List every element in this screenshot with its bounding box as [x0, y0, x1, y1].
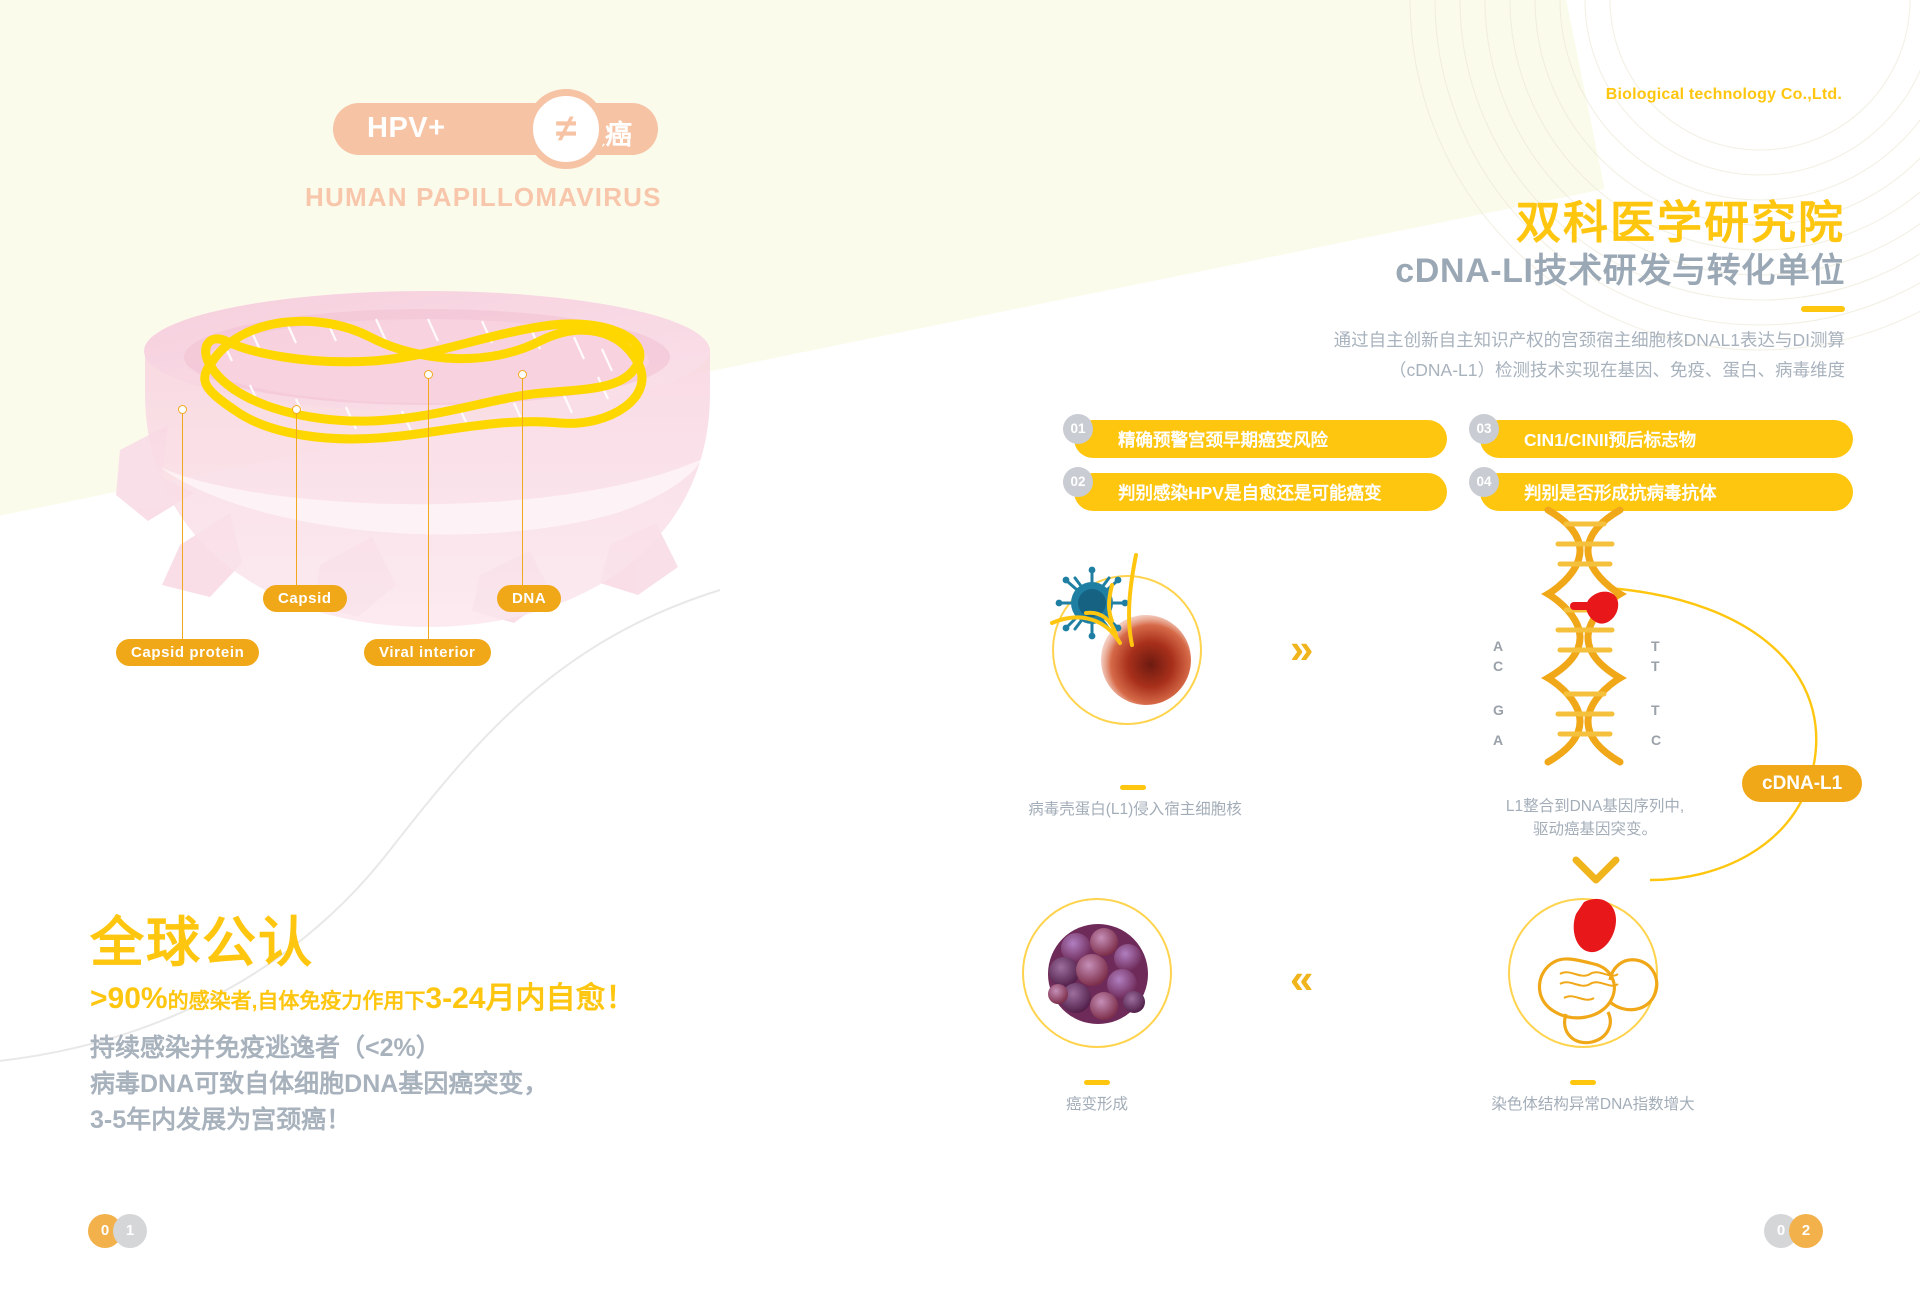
dna-base-left-2: C: [1493, 658, 1503, 674]
paragraph-line-1: 持续感染并免疫逃逸者（<2%）: [90, 1030, 548, 1066]
leader-line-dna: [522, 375, 524, 594]
dna-base-right-4: C: [1651, 732, 1661, 748]
description-line-1: 通过自主创新自主知识产权的宫颈宿主细胞核DNAL1表达与DI测算: [1245, 325, 1845, 355]
dna-base-left-1: A: [1493, 638, 1503, 654]
persistent-infection-paragraph: 持续感染并免疫逃逸者（<2%） 病毒DNA可致自体细胞DNA基因癌突变， 3-5…: [90, 1030, 548, 1138]
hpv-not-equal-cancer-badge: HPV+ 宫颈癌 ≠: [333, 103, 658, 155]
leader-line-capsid: [296, 410, 298, 594]
institute-subtitle: cDNA-LI技术研发与转化单位: [1395, 243, 1845, 292]
institute-description: 通过自主创新自主知识产权的宫颈宿主细胞核DNAL1表达与DI测算 （cDNA-L…: [1245, 325, 1845, 385]
dna-base-right-3: T: [1651, 702, 1660, 718]
human-papillomavirus-subtitle: HUMAN PAPILLOMAVIRUS: [305, 182, 662, 213]
self-clearance-stat: >90%的感染者,自体免疫力作用下3-24月内自愈！: [90, 973, 635, 1017]
step1-caption-rule: [1120, 785, 1146, 790]
virus-petri-dish-illustration: [90, 245, 830, 665]
feature-pill-02-body: 判别感染HPV是自愈还是可能癌变: [1074, 473, 1447, 511]
tag-viral-interior: Viral interior: [364, 639, 491, 666]
feature-pill-03-label: CIN1/CINII预后标志物: [1524, 427, 1696, 452]
dna-base-right-1: T: [1651, 638, 1660, 654]
feature-pill-03[interactable]: CIN1/CINII预后标志物 03: [1469, 420, 1853, 458]
page-number-right: 0 2: [1764, 1214, 1832, 1248]
tag-dna: DNA: [497, 585, 561, 612]
stat-middle-text: 的感染者,自体免疫力作用下: [168, 990, 426, 1013]
feature-pill-02-number: 02: [1063, 467, 1093, 497]
feature-pill-row-1: 精确预警宫颈早期癌变风险 01 CIN1/CINII预后标志物 03: [1063, 420, 1853, 458]
feature-pill-01-label: 精确预警宫颈早期癌变风险: [1118, 427, 1328, 452]
not-equal-icon: ≠: [526, 89, 606, 169]
helix-strands: [1548, 510, 1620, 762]
feature-pill-03-number: 03: [1469, 414, 1499, 444]
step4-caption-rule: [1084, 1080, 1110, 1085]
not-equal-glyph: ≠: [533, 105, 599, 153]
feature-pill-row-2: 判别感染HPV是自愈还是可能癌变 02 判别是否形成抗病毒抗体 04: [1063, 473, 1853, 511]
paragraph-line-3: 3-5年内发展为宫颈癌！: [90, 1102, 548, 1138]
feature-pill-02-label: 判别感染HPV是自愈还是可能癌变: [1118, 480, 1381, 505]
chevron-right-icon: »: [1290, 628, 1313, 670]
cdna-l1-tag: cDNA-L1: [1742, 765, 1862, 802]
dna-base-left-3: G: [1493, 702, 1504, 718]
paragraph-line-2: 病毒DNA可致自体细胞DNA基因癌突变，: [90, 1066, 548, 1102]
stat-tail-text: 3-24月内自愈！: [425, 982, 635, 1015]
step1-caption: 病毒壳蛋白(L1)侵入宿主细胞核: [960, 798, 1310, 821]
feature-pill-03-body: CIN1/CINII预后标志物: [1480, 420, 1853, 458]
step2-caption-line-1: L1整合到DNA基因序列中,: [1440, 795, 1750, 818]
tag-capsid-protein: Capsid protein: [116, 639, 259, 666]
hpv-positive-label: HPV+: [367, 112, 446, 145]
leader-dot-viral-interior: [424, 370, 433, 379]
dna-base-right-2: T: [1651, 658, 1660, 674]
step3-caption: 染色体结构异常DNA指数增大: [1418, 1093, 1768, 1116]
stat-percentage: >90%: [90, 982, 168, 1015]
tag-capsid: Capsid: [263, 585, 347, 612]
abnormal-chromosome-illustration: [1518, 890, 1678, 1060]
page-number-left: 0 1: [88, 1214, 156, 1248]
feature-pill-01[interactable]: 精确预警宫颈早期癌变风险 01: [1063, 420, 1447, 458]
step2-caption-line-2: 驱动癌基因突变。: [1440, 818, 1750, 841]
virus-infecting-cell-illustration: [1050, 545, 1240, 745]
dna-double-helix-mutation: [1470, 502, 1720, 792]
dna-base-left-4: A: [1493, 732, 1503, 748]
leader-dot-capsid: [292, 405, 301, 414]
global-consensus-title: 全球公认: [90, 898, 314, 977]
institute-title: 双科医学研究院: [1516, 186, 1845, 251]
company-brand-line: Biological technology Co.,Ltd.: [1606, 86, 1842, 104]
tumor-cluster-illustration: [1038, 914, 1158, 1034]
chevron-left-icon: «: [1290, 958, 1313, 1000]
feature-pill-02[interactable]: 判别感染HPV是自愈还是可能癌变 02: [1063, 473, 1447, 511]
step2-caption: L1整合到DNA基因序列中, 驱动癌基因突变。: [1440, 795, 1750, 841]
hpv-virion-icon: [1056, 567, 1129, 640]
infographic-page: HPV+ 宫颈癌 ≠ HUMAN PAPILLOMAVIRUS Biologic…: [0, 0, 1920, 1303]
feature-pill-grid: 精确预警宫颈早期癌变风险 01 CIN1/CINII预后标志物 03 判别感染H…: [1063, 420, 1853, 526]
header-divider-rule: [1801, 306, 1845, 312]
leader-dot-dna: [518, 370, 527, 379]
feature-pill-01-body: 精确预警宫颈早期癌变风险: [1074, 420, 1447, 458]
leader-dot-capsid-protein: [178, 405, 187, 414]
chevron-down-icon: [1568, 852, 1624, 892]
cdna-l1-process-diagram: 病毒壳蛋白(L1)侵入宿主细胞核 » A C G A T T T C L1整合到…: [1040, 580, 1870, 1100]
page-number-left-digit-2: 1: [113, 1214, 147, 1248]
step4-caption: 癌变形成: [952, 1093, 1242, 1116]
feature-pill-04-label: 判别是否形成抗病毒抗体: [1524, 480, 1717, 505]
leader-line-capsid-protein: [182, 410, 184, 648]
leader-line-viral-interior: [428, 375, 430, 648]
feature-pill-04-number: 04: [1469, 467, 1499, 497]
step3-caption-rule: [1570, 1080, 1596, 1085]
feature-pill-01-number: 01: [1063, 414, 1093, 444]
chromosome-red-lobe: [1574, 899, 1616, 952]
description-line-2: （cDNA-L1）检测技术实现在基因、免疫、蛋白、病毒维度: [1245, 355, 1845, 385]
page-number-right-digit-2: 2: [1789, 1214, 1823, 1248]
